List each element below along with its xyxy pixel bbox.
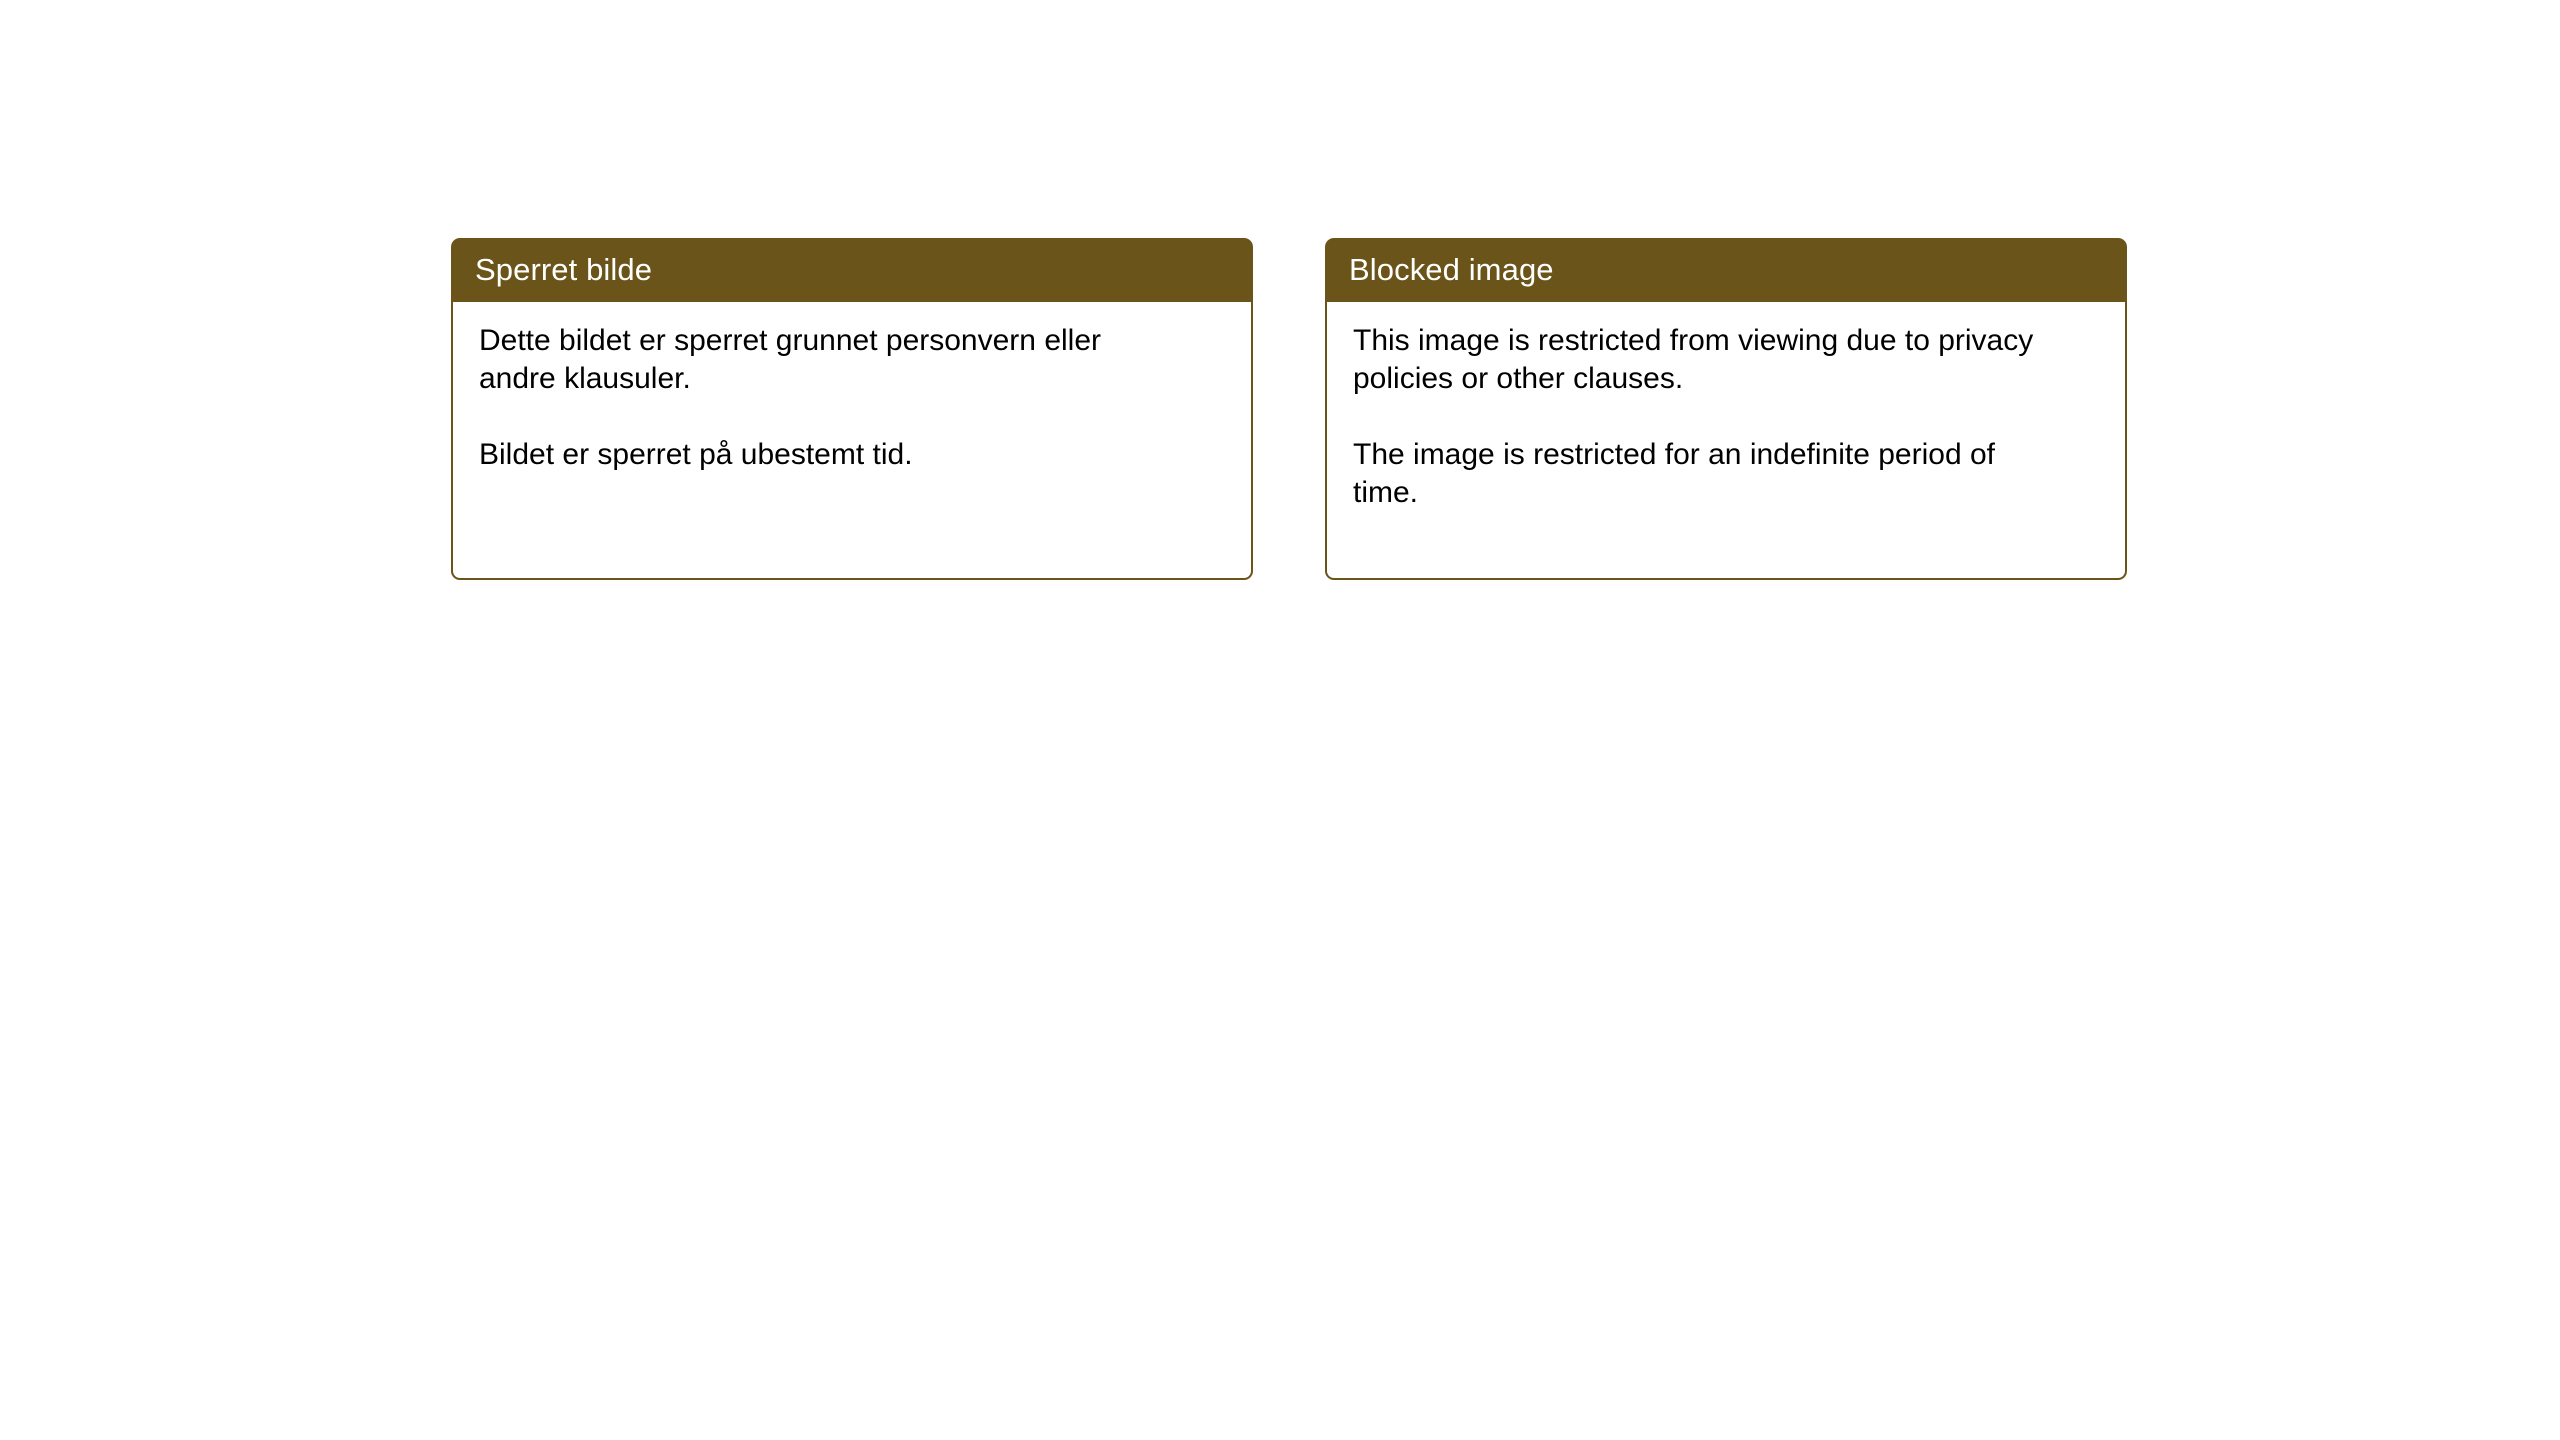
panel-header-english: Blocked image — [1325, 238, 2127, 302]
panel-body-english: This image is restricted from viewing du… — [1325, 302, 2127, 580]
blocked-image-panel-english: Blocked image This image is restricted f… — [1325, 238, 2127, 580]
panel-header-norwegian: Sperret bilde — [451, 238, 1253, 302]
panel-paragraph-norwegian-2: Bildet er sperret på ubestemt tid. — [479, 436, 1179, 474]
panel-paragraph-english-1: This image is restricted from viewing du… — [1353, 322, 2053, 398]
panel-title-english: Blocked image — [1349, 253, 1554, 287]
panel-body-norwegian: Dette bildet er sperret grunnet personve… — [451, 302, 1253, 580]
blocked-image-panel-norwegian: Sperret bilde Dette bildet er sperret gr… — [451, 238, 1253, 580]
blocked-image-notice-area: Sperret bilde Dette bildet er sperret gr… — [451, 238, 2128, 580]
panel-title-norwegian: Sperret bilde — [475, 253, 652, 287]
panel-paragraph-norwegian-1: Dette bildet er sperret grunnet personve… — [479, 322, 1179, 398]
panel-paragraph-english-2: The image is restricted for an indefinit… — [1353, 436, 2053, 512]
